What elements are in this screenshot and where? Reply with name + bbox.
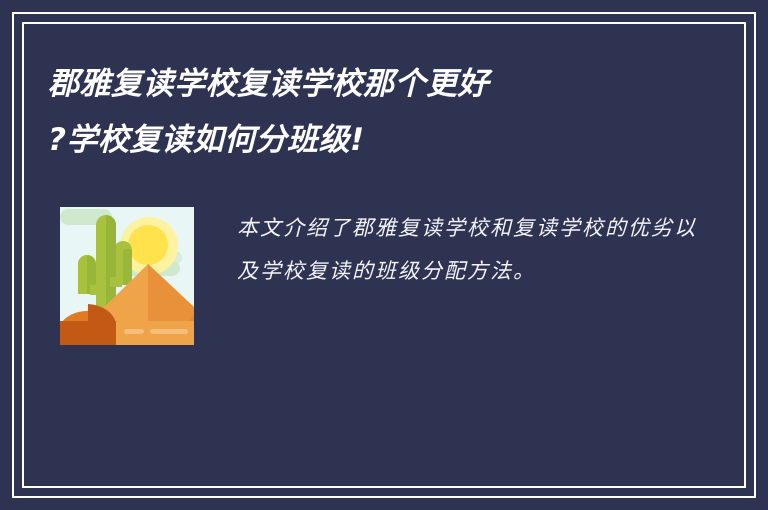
title-line-2: ?学校复读如何分班级! [48,112,648,168]
desert-cactus-illustration [52,203,207,353]
poster-card: 郡雅复读学校复读学校那个更好 ?学校复读如何分班级! [0,0,768,510]
article-summary: 本文介绍了郡雅复读学校和复读学校的优劣以及学校复读的班级分配方法。 [237,207,697,293]
title-line-1: 郡雅复读学校复读学校那个更好 [48,56,648,112]
page-title: 郡雅复读学校复读学校那个更好 ?学校复读如何分班级! [48,56,648,168]
